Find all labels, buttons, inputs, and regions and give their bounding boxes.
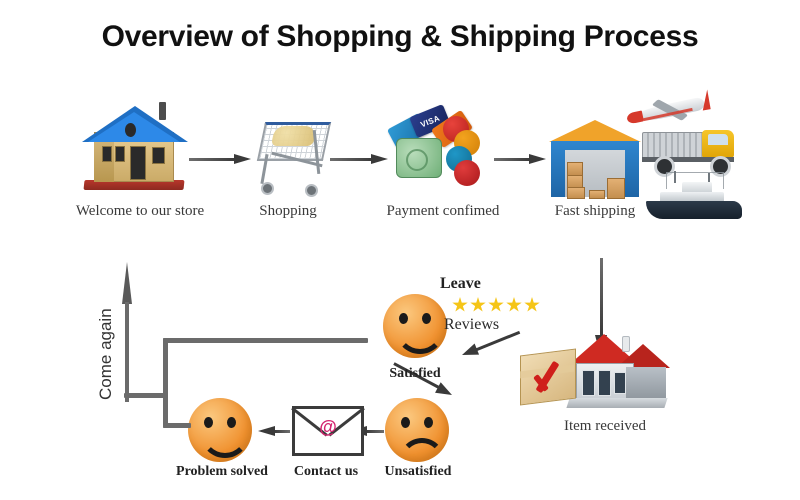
label-problem-solved: Problem solved bbox=[155, 464, 289, 480]
received-house-window-3 bbox=[614, 372, 626, 394]
smiley-face-icon bbox=[188, 398, 252, 462]
arrow-shaft bbox=[189, 158, 235, 162]
arrow-store-to-shopping bbox=[189, 155, 251, 163]
delivery-truck-icon bbox=[642, 128, 740, 176]
arrow-shaft bbox=[330, 158, 372, 162]
face-smile bbox=[395, 322, 445, 354]
received-house-window-2 bbox=[598, 370, 611, 396]
label-shopping: Shopping bbox=[218, 203, 358, 220]
arrow-contact-to-problem-solved bbox=[258, 427, 290, 435]
page-title: Overview of Shopping & Shipping Process bbox=[0, 20, 800, 54]
arrow-head bbox=[258, 426, 275, 436]
label-payment-confimed: Payment confimed bbox=[358, 203, 528, 220]
plane-nose bbox=[626, 110, 644, 124]
label-reviews: Reviews bbox=[444, 316, 544, 334]
warehouse-box-1 bbox=[567, 162, 583, 176]
star-icon[interactable] bbox=[488, 297, 504, 313]
face-smile bbox=[200, 426, 250, 458]
label-leave: Leave bbox=[440, 275, 530, 293]
ship-mast-1 bbox=[674, 171, 676, 183]
arrow-head bbox=[529, 154, 546, 164]
house-window-1 bbox=[102, 146, 112, 162]
package-house-icon bbox=[520, 330, 670, 418]
envelope-at-icon: @ bbox=[292, 406, 364, 456]
warehouse-box-5 bbox=[589, 190, 605, 199]
house-chimney bbox=[159, 102, 166, 120]
warehouse-box-3 bbox=[567, 187, 585, 199]
received-house-window-1 bbox=[582, 370, 595, 396]
cart-wheel-2 bbox=[305, 184, 318, 197]
frowny-face-icon bbox=[385, 398, 449, 462]
house-icon bbox=[78, 98, 188, 190]
arrow-shaft bbox=[494, 158, 530, 162]
cart-wheel-1 bbox=[261, 182, 274, 195]
star-icon[interactable] bbox=[470, 297, 486, 313]
house-window-2 bbox=[115, 146, 125, 162]
house-door bbox=[130, 146, 146, 180]
credit-cards-icon: VISA bbox=[388, 108, 488, 188]
arrow-shaft bbox=[125, 302, 129, 402]
loop-connector-horizontal-upper bbox=[163, 338, 368, 343]
star-icon[interactable] bbox=[506, 297, 522, 313]
arrow-payment-to-shipping bbox=[494, 155, 546, 163]
label-satisfied: Satisfied bbox=[360, 366, 470, 382]
warehouse-box-4 bbox=[607, 178, 625, 199]
star-icon[interactable] bbox=[452, 297, 468, 313]
received-house-base bbox=[566, 398, 667, 408]
diagram-canvas: Overview of Shopping & Shipping Process … bbox=[0, 0, 800, 500]
truck-cargo-box bbox=[642, 132, 706, 160]
loop-connector-vertical bbox=[163, 338, 168, 428]
shopping-cart-icon bbox=[243, 110, 335, 196]
checkmark-icon bbox=[534, 358, 574, 394]
star-icon[interactable] bbox=[524, 297, 540, 313]
house-window-3 bbox=[152, 147, 165, 164]
arrow-shopping-to-payment bbox=[330, 155, 388, 163]
cargo-ship-icon bbox=[646, 173, 742, 223]
loop-connector-horizontal-lower bbox=[124, 393, 168, 398]
received-house-chimney bbox=[622, 336, 630, 352]
arrow-shaft bbox=[600, 258, 604, 336]
at-symbol-icon: @ bbox=[319, 418, 337, 436]
face-frown bbox=[399, 438, 445, 466]
loop-connector-to-problem-solved bbox=[163, 423, 191, 428]
ship-hull bbox=[646, 201, 742, 219]
truck-windshield bbox=[708, 134, 728, 145]
face-eye-right bbox=[424, 417, 433, 428]
smiley-face-icon bbox=[383, 294, 447, 358]
label-item-received: Item received bbox=[510, 418, 700, 435]
cart-goods bbox=[271, 126, 317, 146]
house-attic-window bbox=[125, 123, 136, 137]
cash-money-icon bbox=[396, 138, 442, 178]
arrow-shaft bbox=[274, 430, 290, 434]
rating-stars[interactable] bbox=[452, 297, 540, 313]
label-come-again: Come again bbox=[96, 308, 116, 400]
arrow-head bbox=[371, 154, 388, 164]
arrow-head bbox=[460, 343, 479, 360]
arrow-come-again-up bbox=[122, 262, 132, 402]
arrow-head bbox=[122, 262, 132, 304]
face-eye-left bbox=[401, 417, 410, 428]
payment-badge-maestro-red bbox=[454, 160, 480, 186]
arrow-shaft bbox=[366, 430, 384, 434]
received-house-wall-side bbox=[626, 367, 666, 401]
delivery-destination-house bbox=[564, 330, 670, 412]
